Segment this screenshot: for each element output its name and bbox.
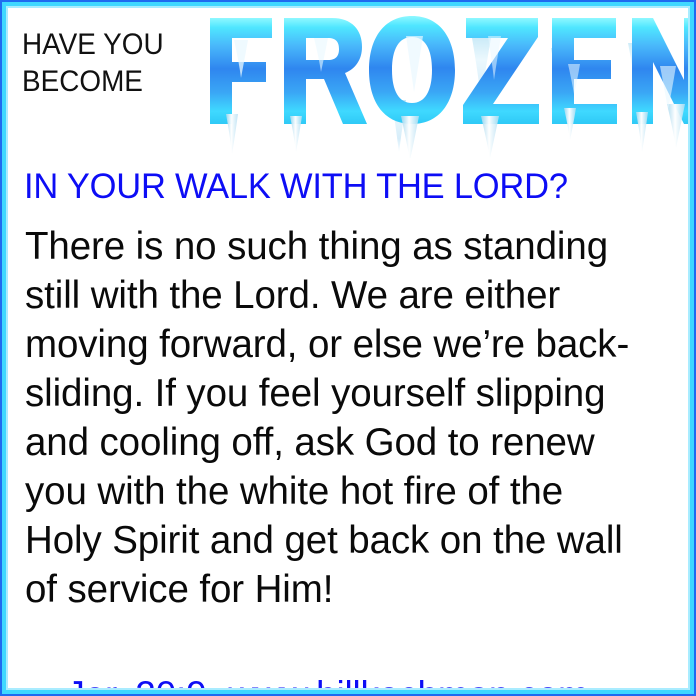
subtitle-text: IN YOUR WALK WITH THE LORD? — [24, 166, 674, 208]
body-paragraph: There is no such thing as standing still… — [25, 222, 673, 614]
frozen-wordmark — [196, 8, 692, 158]
frozen-wordmark-svg — [196, 8, 692, 158]
scripture-reference: Jer. 20:9 — [66, 674, 206, 696]
website-url[interactable]: www.billkochman.com — [228, 674, 588, 696]
poster-canvas: HAVE YOU BECOME — [0, 0, 696, 696]
kicker-text: HAVE YOU BECOME — [22, 26, 208, 100]
frozen-letters — [210, 16, 692, 124]
footer-row: Jer. 20:9www.billkochman.com — [26, 629, 676, 696]
header-row: HAVE YOU BECOME — [0, 0, 696, 160]
